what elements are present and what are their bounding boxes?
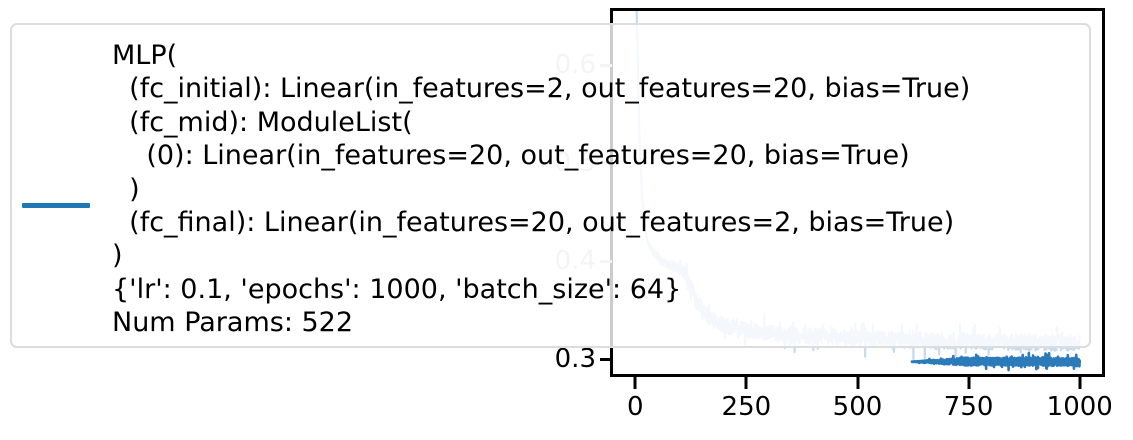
x-tick-label-250: 250	[722, 394, 772, 420]
x-tick-mark-0	[634, 377, 637, 389]
legend-line-5: (fc_final): Linear(in_features=20, out_f…	[112, 206, 970, 239]
x-tick-mark-500	[856, 377, 859, 389]
x-tick-label-1000: 1000	[1047, 394, 1113, 420]
legend-line-6: )	[112, 239, 970, 272]
legend-line-7: {'lr': 0.1, 'epochs': 1000, 'batch_size'…	[112, 273, 970, 306]
x-tick-mark-750	[967, 377, 970, 389]
y-tick-0.3: 0.3	[530, 346, 596, 372]
legend-line-4: )	[112, 173, 970, 206]
x-tick-mark-1000	[1078, 377, 1081, 389]
legend-label-block: MLP( (fc_initial): Linear(in_features=2,…	[112, 39, 970, 340]
legend-line-0: MLP(	[112, 39, 970, 72]
x-tick-label-500: 500	[833, 394, 883, 420]
legend-line-1: (fc_initial): Linear(in_features=2, out_…	[112, 72, 970, 105]
legend-line-8: Num Params: 522	[112, 306, 970, 339]
x-tick-mark-250	[745, 377, 748, 389]
legend-line-3: (0): Linear(in_features=20, out_features…	[112, 139, 970, 172]
x-tick-label-0: 0	[627, 394, 644, 420]
legend-line-2: (fc_mid): ModuleList(	[112, 106, 970, 139]
y-tick-label: 0.3	[555, 346, 596, 372]
legend-line-sample	[22, 203, 90, 208]
figure-canvas: 0.30.40.50.6 02505007501000 MLP( (fc_ini…	[0, 0, 1133, 440]
y-tick-mark	[600, 358, 612, 361]
legend-panel[interactable]: MLP( (fc_initial): Linear(in_features=2,…	[10, 23, 1091, 348]
x-tick-label-750: 750	[944, 394, 994, 420]
series-line-val_loss	[911, 353, 1080, 370]
